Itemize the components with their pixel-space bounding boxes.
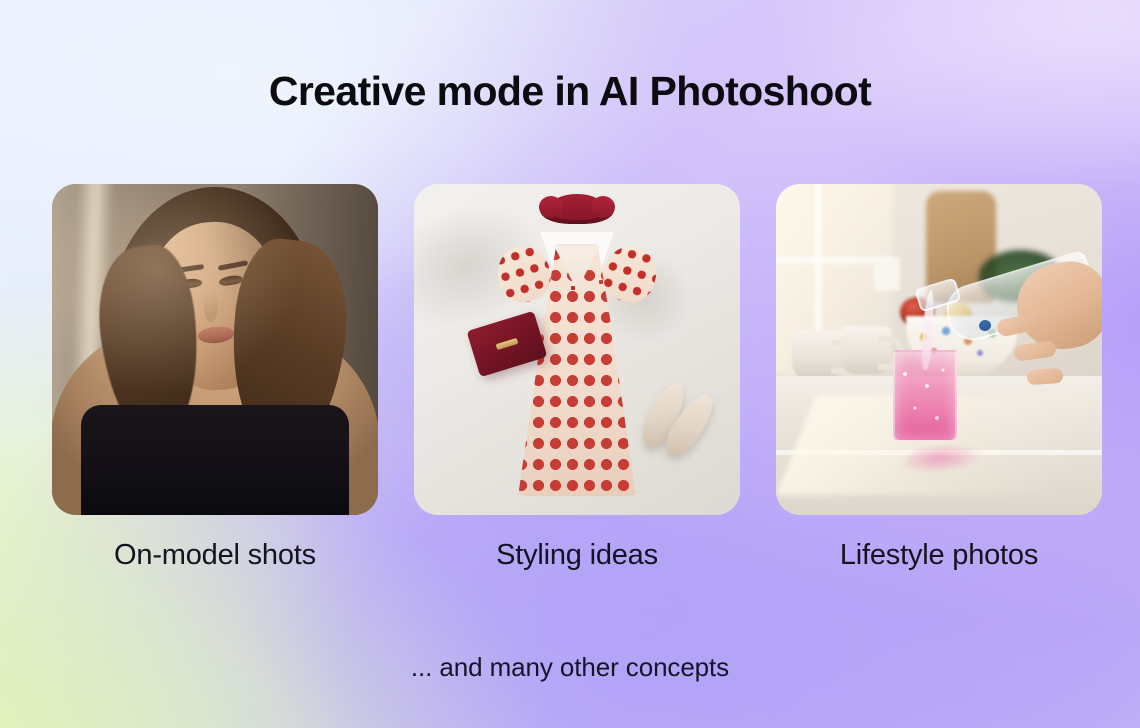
mug-left — [792, 330, 844, 378]
footnote-text: ... and many other concepts — [0, 651, 1140, 683]
clutch-clasp — [496, 338, 519, 350]
example-caption-list: On-model shots Styling ideas Lifestyle p… — [52, 538, 1088, 572]
example-card-styling-ideas[interactable] — [414, 184, 740, 515]
styling-flatlay-image — [414, 184, 740, 515]
lifestyle-photo-image — [776, 184, 1102, 515]
pink-drink-shadow — [898, 442, 1026, 475]
mug-right — [841, 326, 891, 374]
caption-on-model-shots: On-model shots — [52, 538, 378, 572]
poster-content: Creative mode in AI Photoshoot — [0, 0, 1140, 728]
promo-poster: Creative mode in AI Photoshoot — [0, 0, 1140, 728]
warm-light-glow — [52, 184, 378, 515]
example-card-on-model-shots[interactable] — [52, 184, 378, 515]
caption-lifestyle-photos: Lifestyle photos — [776, 538, 1102, 572]
example-card-list — [52, 184, 1088, 515]
burgundy-bow — [548, 194, 606, 220]
example-card-lifestyle-photos[interactable] — [776, 184, 1102, 515]
caption-styling-ideas: Styling ideas — [414, 538, 740, 572]
page-title: Creative mode in AI Photoshoot — [0, 68, 1140, 114]
on-model-shot-image — [52, 184, 378, 515]
wall-outlet — [874, 257, 900, 291]
finger-middle — [1013, 340, 1057, 362]
